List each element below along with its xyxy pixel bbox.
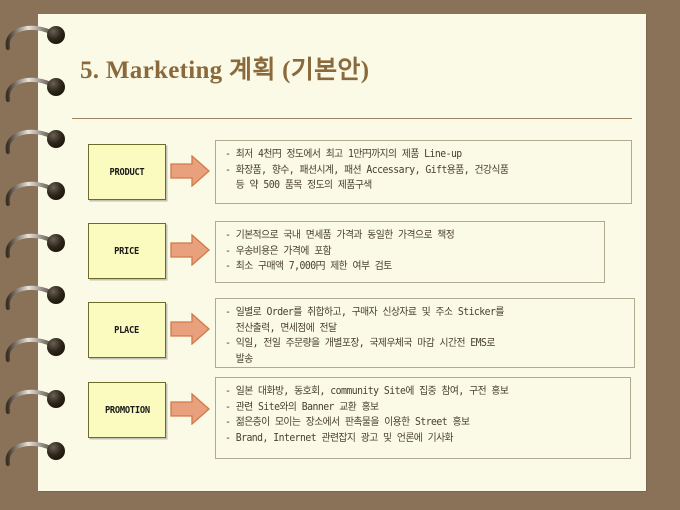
text-line: - Brand, Internet 관련잡지 광고 및 언론에 기사화	[225, 431, 606, 447]
label-box-place[interactable]: PLACE	[88, 302, 166, 358]
arrow-right-icon-price	[170, 234, 210, 266]
text-line: 전산출력, 면세점에 전달	[225, 321, 610, 337]
slide-canvas: 5. Marketing 계획 (기본안) PRODUCT - 최저 4천円 정…	[0, 0, 680, 510]
text-line: - 최저 4천円 정도에서 최고 1만円까지의 제품 Line-up	[225, 147, 607, 163]
text-line: - 일별로 Order를 취합하고, 구매자 신상자료 및 주소 Sticker…	[225, 305, 610, 321]
text-line: - 일본 대화방, 동호회, community Site에 집중 참여, 구전…	[225, 384, 606, 400]
text-box-promotion: - 일본 대화방, 동호회, community Site에 집중 참여, 구전…	[215, 377, 631, 459]
text-line: - 우송비용은 가격에 포함	[225, 244, 581, 260]
text-box-price: - 기본적으로 국내 면세품 가격과 동일한 가격으로 책정 - 우송비용은 가…	[215, 221, 605, 283]
text-line: - 최소 구매액 7,000円 제한 여부 검토	[225, 259, 581, 275]
arrow-right-icon-promotion	[170, 393, 210, 425]
label-box-place-text: PLACE	[115, 325, 140, 336]
label-box-promotion[interactable]: PROMOTION	[88, 382, 166, 438]
label-box-product[interactable]: PRODUCT	[88, 144, 166, 200]
text-line: - 관련 Site와의 Banner 교환 홍보	[225, 400, 606, 416]
label-box-price-text: PRICE	[115, 246, 140, 257]
text-line: - 익일, 전일 주문량을 개별포장, 국제우체국 마감 시간전 EMS로	[225, 336, 610, 352]
slide-title: 5. Marketing 계획 (기본안)	[80, 50, 369, 86]
label-box-promotion-text: PROMOTION	[105, 405, 150, 416]
arrow-right-icon-product	[170, 155, 210, 187]
label-box-product-text: PRODUCT	[110, 167, 145, 178]
arrow-right-icon-place	[170, 313, 210, 345]
text-line: 발송	[225, 352, 610, 368]
text-box-place: - 일별로 Order를 취합하고, 구매자 신상자료 및 주소 Sticker…	[215, 298, 635, 368]
text-line: 등 약 500 품목 정도의 제품구색	[225, 178, 607, 194]
text-line: - 기본적으로 국내 면세품 가격과 동일한 가격으로 책정	[225, 228, 581, 244]
text-line: - 화장품, 향수, 패션시계, 패션 Accessary, Gift용품, 건…	[225, 163, 607, 179]
text-line: - 젊은층이 모이는 장소에서 판촉물을 이용한 Street 홍보	[225, 415, 606, 431]
title-divider	[72, 118, 632, 119]
text-box-product: - 최저 4천円 정도에서 최고 1만円까지의 제품 Line-up - 화장품…	[215, 140, 632, 204]
label-box-price[interactable]: PRICE	[88, 223, 166, 279]
